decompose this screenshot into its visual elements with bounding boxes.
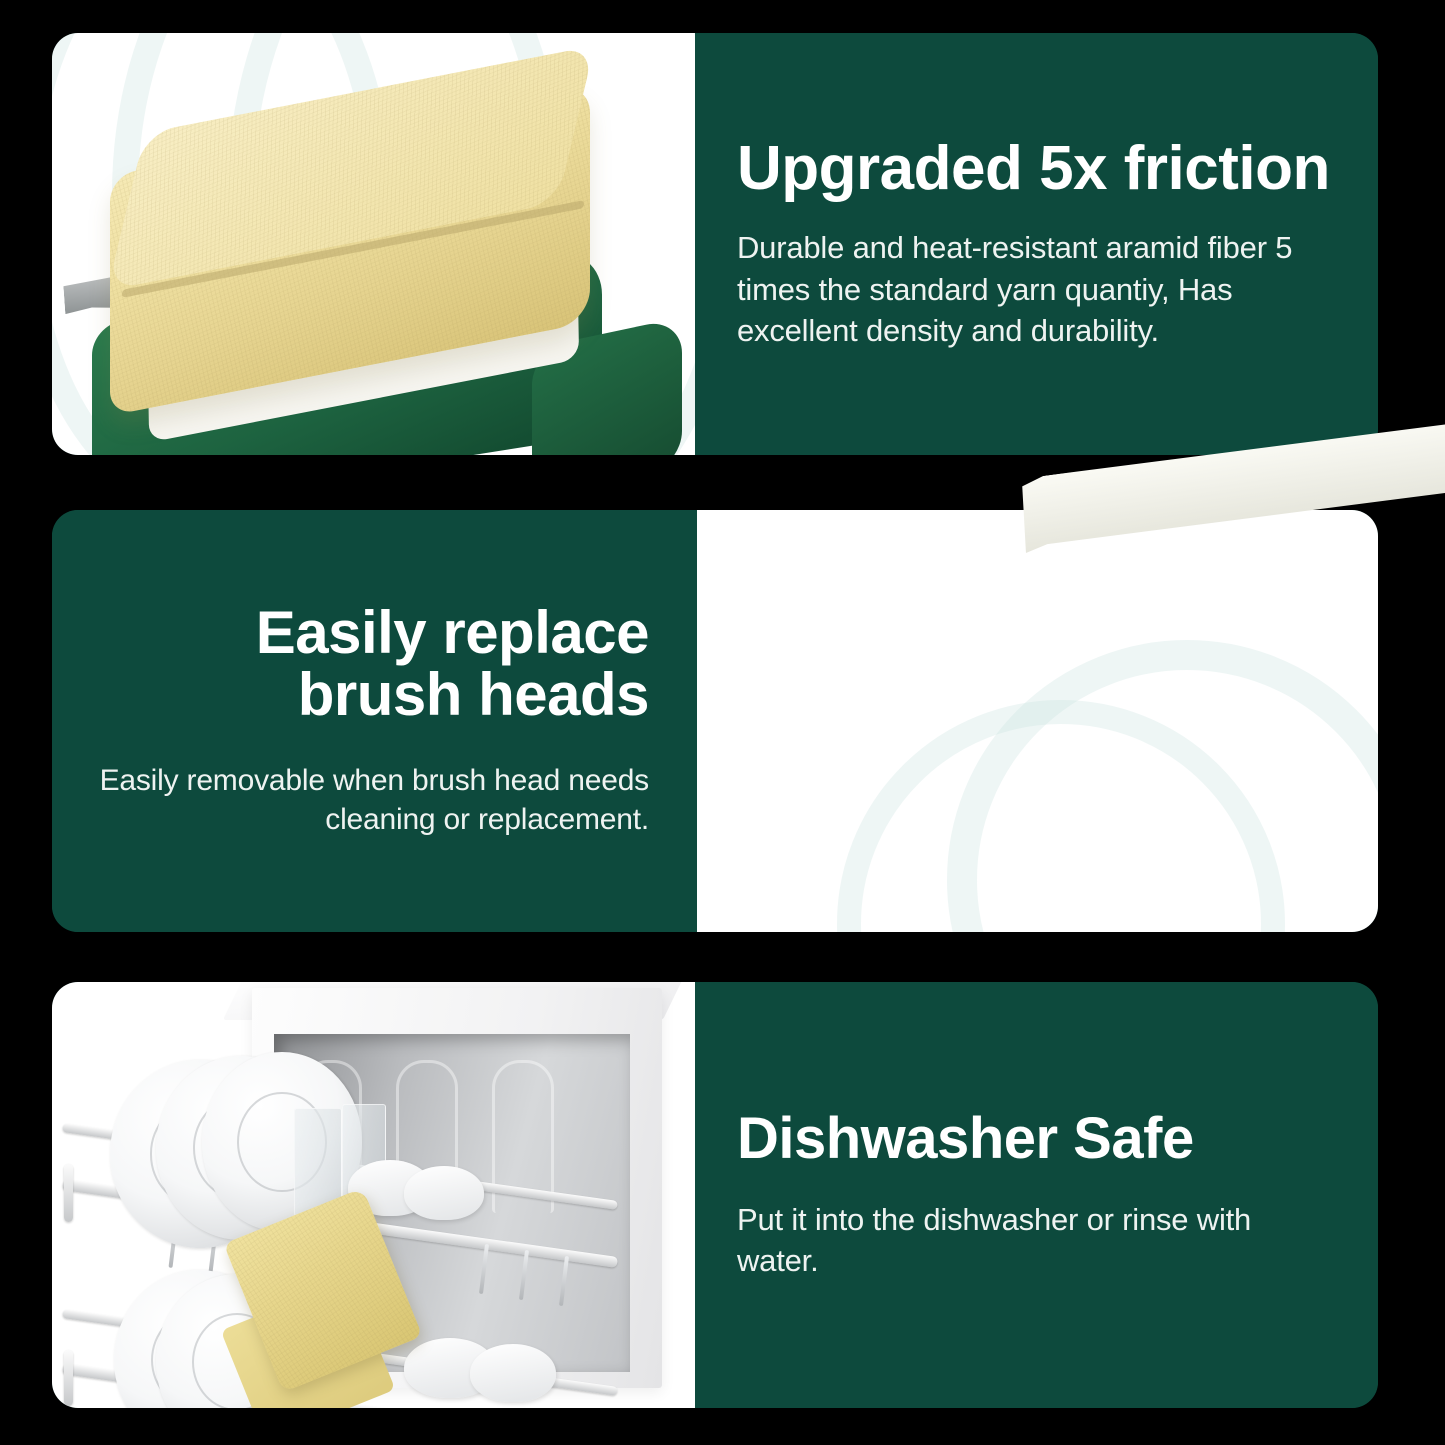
product-photo-brush-head (697, 510, 1378, 932)
feature-panel-upgraded-friction: Upgraded 5x friction Durable and heat-re… (52, 33, 1378, 455)
panel-headline: Upgraded 5x friction (737, 137, 1340, 201)
panel-headline: Dishwasher Safe (737, 1109, 1340, 1169)
backdrop-arcs (697, 510, 1378, 932)
feature-panel-replace-brush-heads: Easily replace brush heads Easily remova… (52, 510, 1378, 932)
panel-subtext: Put it into the dishwasher or rinse with… (737, 1199, 1340, 1281)
panel-subtext: Durable and heat-resistant aramid fiber … (737, 227, 1340, 351)
panel-headline: Easily replace brush heads (256, 602, 649, 727)
feature-text-block: Dishwasher Safe Put it into the dishwash… (695, 982, 1378, 1408)
feature-panel-dishwasher-safe: Dishwasher Safe Put it into the dishwash… (52, 982, 1378, 1408)
panel-subtext: Easily removable when brush head needs c… (92, 761, 649, 841)
rack-end-post (64, 1350, 73, 1406)
arc-shape (837, 700, 1285, 932)
product-photo-aramid-pad (52, 33, 695, 455)
product-feature-infographic: Upgraded 5x friction Durable and heat-re… (0, 0, 1445, 1445)
product-photo-dishwasher (52, 982, 695, 1408)
feature-text-block: Easily replace brush heads Easily remova… (52, 510, 697, 932)
arc-shape (947, 640, 1378, 932)
feature-text-block: Upgraded 5x friction Durable and heat-re… (695, 33, 1378, 455)
bowl (470, 1344, 556, 1402)
